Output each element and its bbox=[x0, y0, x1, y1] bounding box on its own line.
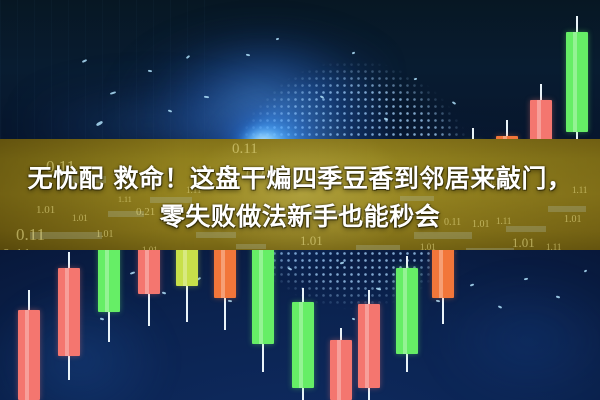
ticker-value: 1.01 bbox=[512, 236, 535, 249]
candle-body bbox=[396, 268, 418, 354]
banner-data-bar bbox=[356, 245, 400, 250]
candle-body bbox=[252, 244, 274, 344]
candle-body bbox=[18, 310, 40, 400]
headline-line-2: 零失败做法新手也能秒会 bbox=[0, 198, 600, 236]
promo-image-canvas: 0.111.010.110.111.011.011.110.211.011.11… bbox=[0, 0, 600, 400]
ticker-value: 0.11 bbox=[2, 246, 31, 250]
candle-body bbox=[566, 32, 588, 132]
banner-data-bar bbox=[236, 244, 266, 249]
candle-body bbox=[358, 304, 380, 388]
headline-line-1: 无忧配 救命！这盘干煸四季豆香到邻居来敲门， bbox=[0, 160, 600, 198]
ticker-value: 1.11 bbox=[546, 243, 561, 250]
ticker-value: 0.11 bbox=[232, 142, 258, 157]
banner-data-bar bbox=[466, 248, 514, 250]
ticker-value: 1.01 bbox=[142, 246, 158, 250]
ticker-value: 1.01 bbox=[420, 243, 436, 250]
headline: 无忧配 救命！这盘干煸四季豆香到邻居来敲门， 零失败做法新手也能秒会 bbox=[0, 160, 600, 236]
candle-body bbox=[58, 268, 80, 356]
candle-body bbox=[292, 302, 314, 388]
candle-body bbox=[330, 340, 352, 400]
